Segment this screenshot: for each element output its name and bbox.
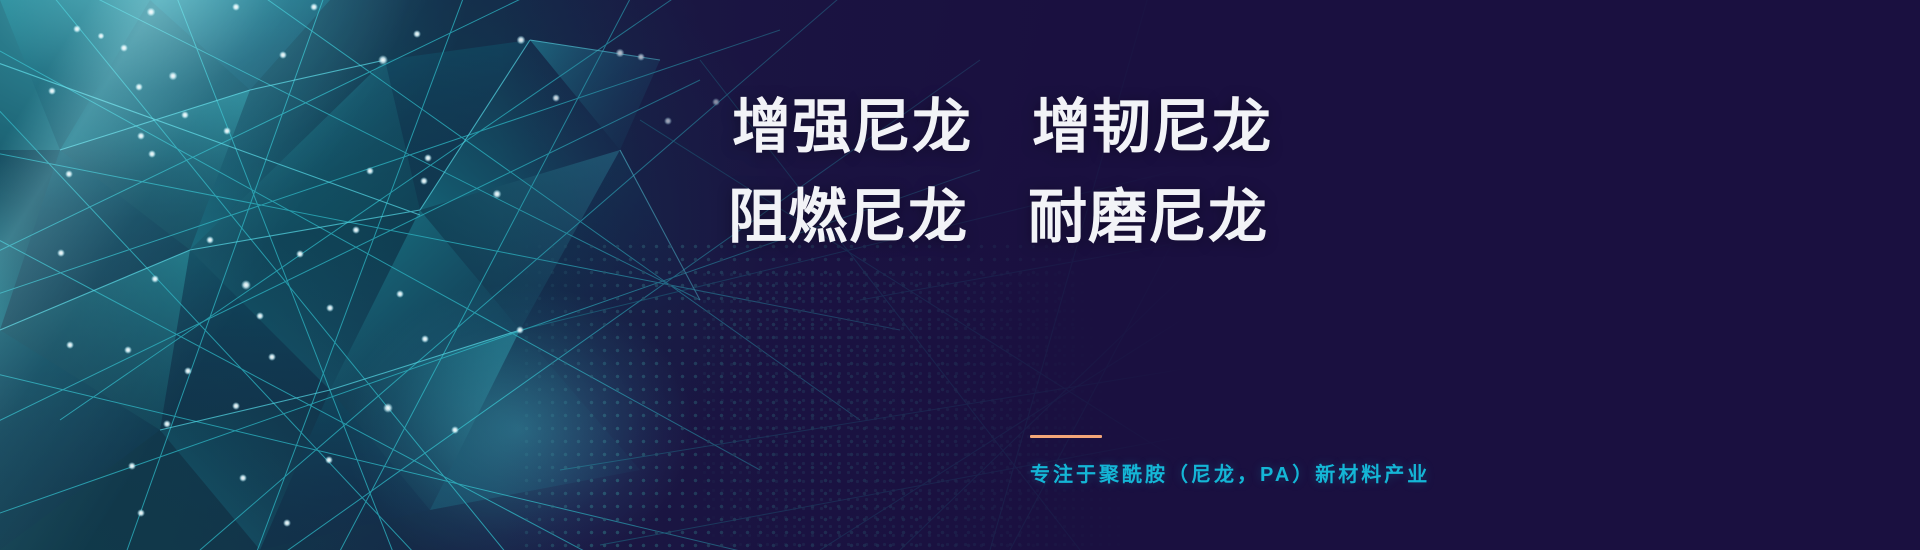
hero-banner: 增强尼龙 增韧尼龙 阻燃尼龙 耐磨尼龙 专注于聚酰胺（尼龙，PA）新材料产业 — [0, 0, 1920, 550]
headline-line-1: 增强尼龙 增韧尼龙 — [732, 98, 1272, 157]
headline-line-2: 阻燃尼龙 耐磨尼龙 — [728, 188, 1268, 247]
hero-content: 增强尼龙 增韧尼龙 阻燃尼龙 耐磨尼龙 专注于聚酰胺（尼龙，PA）新材料产业 — [728, 0, 1628, 550]
tagline-divider — [1030, 435, 1102, 438]
tagline-text: 专注于聚酰胺（尼龙，PA）新材料产业 — [1030, 458, 1430, 487]
